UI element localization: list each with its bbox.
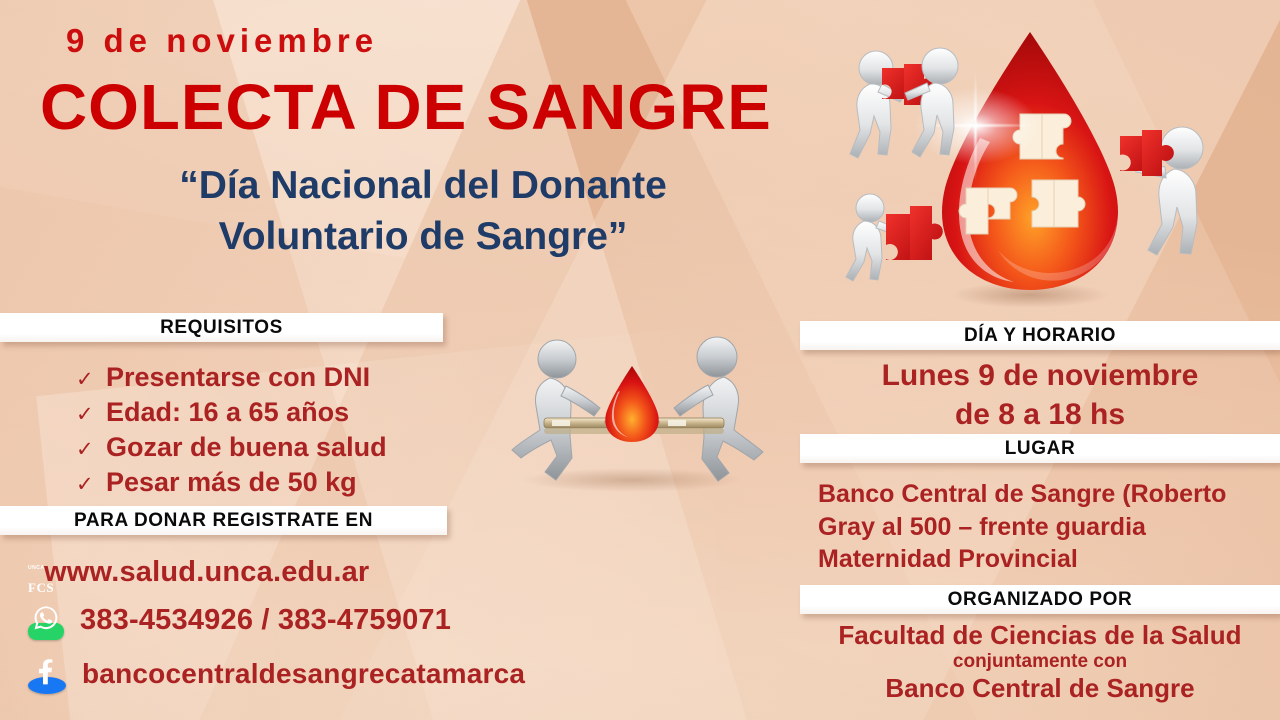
banner-para-donar-label: PARA DONAR REGISTRATE EN xyxy=(74,511,373,530)
dia-horario-line-2: de 8 a 18 hs xyxy=(800,395,1280,434)
list-item: ✓ Edad: 16 a 65 años xyxy=(76,395,387,430)
facebook-icon xyxy=(28,652,66,695)
list-item: ✓ Presentarse con DNI xyxy=(76,360,387,395)
requisitos-list: ✓ Presentarse con DNI ✓ Edad: 16 a 65 añ… xyxy=(76,360,387,500)
page-title: COLECTA DE SANGRE xyxy=(40,70,772,144)
banner-lugar-label: LUGAR xyxy=(1005,439,1076,458)
whatsapp-icon xyxy=(28,600,64,641)
organizado-text: Facultad de Ciencias de la Salud conjunt… xyxy=(800,620,1280,704)
poster-canvas: 9 de noviembre COLECTA DE SANGRE “Día Na… xyxy=(0,0,1280,720)
banner-dia-horario: DÍA Y HORARIO xyxy=(800,321,1280,350)
figure-right xyxy=(1120,127,1203,255)
event-date: 9 de noviembre xyxy=(66,22,378,60)
check-icon: ✓ xyxy=(76,401,92,428)
banner-organizado-por: ORGANIZADO POR xyxy=(800,585,1280,614)
banner-organizado-por-label: ORGANIZADO POR xyxy=(948,590,1133,609)
banner-dia-horario-label: DÍA Y HORARIO xyxy=(964,326,1116,345)
lugar-text: Banco Central de Sangre (Roberto Gray al… xyxy=(818,478,1273,576)
check-icon: ✓ xyxy=(76,436,92,463)
contact-row-website[interactable]: FCS UNCA www.salud.unca.edu.ar xyxy=(28,556,628,589)
list-item: ✓ Gozar de buena salud xyxy=(76,430,387,465)
list-item-label: Edad: 16 a 65 años xyxy=(106,395,349,430)
banner-para-donar: PARA DONAR REGISTRATE EN xyxy=(0,506,447,535)
list-item-label: Presentarse con DNI xyxy=(106,360,370,395)
list-item-label: Pesar más de 50 kg xyxy=(106,465,357,500)
stretcher-figure-left xyxy=(512,340,600,480)
website-link[interactable]: www.salud.unca.edu.ar xyxy=(44,556,369,589)
list-item: ✓ Pesar más de 50 kg xyxy=(76,465,387,500)
check-icon: ✓ xyxy=(76,366,92,393)
blood-drop-illustration xyxy=(830,18,1230,318)
stretcher-figure-right xyxy=(674,337,763,481)
contact-row-phones[interactable]: 383-4534926 / 383-4759071 xyxy=(28,600,628,641)
organizado-line-2: conjuntamente con xyxy=(800,651,1280,673)
stretcher-icon xyxy=(482,322,782,502)
list-item-label: Gozar de buena salud xyxy=(106,430,387,465)
banner-requisitos-label: REQUISITOS xyxy=(160,318,283,337)
figure-bottom-left xyxy=(846,194,943,281)
dia-horario-text: Lunes 9 de noviembre de 8 a 18 hs xyxy=(800,356,1280,434)
stretcher-illustration xyxy=(482,322,782,502)
figure-pair-left xyxy=(850,48,958,158)
subtitle: “Día Nacional del Donante Voluntario de … xyxy=(78,160,768,263)
banner-requisitos: REQUISITOS xyxy=(0,313,443,342)
facebook-handle[interactable]: bancocentraldesangrecatamarca xyxy=(82,658,525,690)
dia-horario-line-1: Lunes 9 de noviembre xyxy=(800,356,1280,395)
contact-row-facebook[interactable]: bancocentraldesangrecatamarca xyxy=(28,652,628,695)
check-icon: ✓ xyxy=(76,471,92,498)
organizado-line-1: Facultad de Ciencias de la Salud xyxy=(800,620,1280,651)
subtitle-line-2: Voluntario de Sangre” xyxy=(78,211,768,262)
organizado-line-3: Banco Central de Sangre xyxy=(800,673,1280,704)
subtitle-line-1: “Día Nacional del Donante xyxy=(78,160,768,211)
blood-drop-icon xyxy=(830,18,1230,318)
banner-lugar: LUGAR xyxy=(800,434,1280,463)
phone-numbers[interactable]: 383-4534926 / 383-4759071 xyxy=(80,604,451,637)
contact-block: FCS UNCA www.salud.unca.edu.ar 383-45349… xyxy=(28,556,628,706)
